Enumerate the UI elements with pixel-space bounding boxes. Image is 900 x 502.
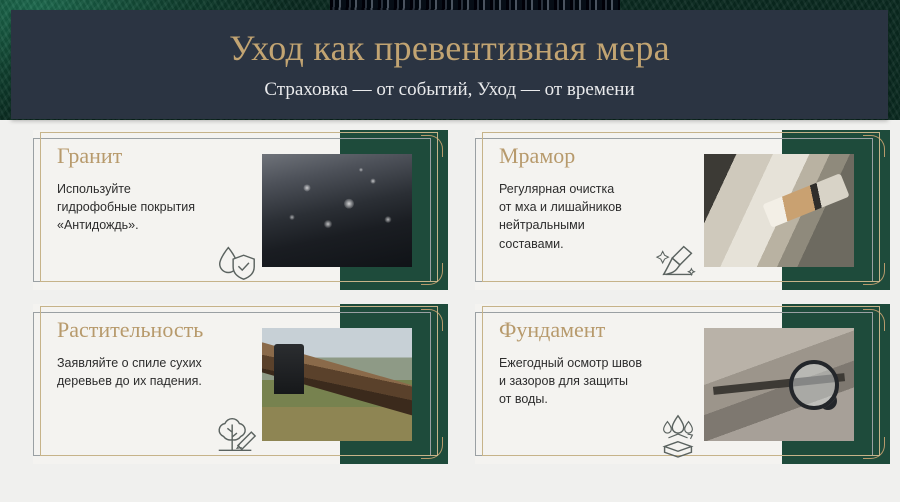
corner-ornament-bottom-right-icon [863, 263, 885, 285]
water-drop-shield-icon [213, 238, 259, 284]
card-granit[interactable]: Гранит Используйте гидрофобные покрытия … [33, 130, 448, 290]
card-text: Используйте гидрофобные покрытия «Антидо… [57, 180, 272, 234]
corner-ornament-bottom-right-icon [863, 437, 885, 459]
card-mramor[interactable]: Мрамор Регулярная очистка от мха и лишай… [475, 130, 890, 290]
waterproof-surface-icon [655, 412, 701, 458]
card-photo-granite [262, 154, 412, 267]
corner-ornament-top-right-icon [863, 135, 885, 157]
card-rastitelnost[interactable]: Растительность Заявляйте о спиле сухих д… [33, 304, 448, 464]
corner-ornament-top-right-icon [421, 309, 443, 331]
card-title: Растительность [57, 318, 272, 342]
cleaning-brush-icon [655, 238, 701, 284]
corner-ornament-bottom-right-icon [421, 263, 443, 285]
corner-ornament-top-right-icon [421, 135, 443, 157]
card-title: Фундамент [499, 318, 714, 342]
cards-grid: Гранит Используйте гидрофобные покрытия … [0, 130, 900, 464]
corner-ornament-bottom-right-icon [421, 437, 443, 459]
page-subtitle: Страховка — от событий, Уход — от времен… [264, 79, 634, 101]
card-text: Ежегодный осмотр швов и зазоров для защи… [499, 354, 714, 408]
card-photo-foundation [704, 328, 854, 441]
card-fundament[interactable]: Фундамент Ежегодный осмотр швов и зазоро… [475, 304, 890, 464]
tree-saw-icon [213, 412, 259, 458]
corner-ornament-top-right-icon [863, 309, 885, 331]
card-title: Мрамор [499, 144, 714, 168]
header-panel: Уход как превентивная мера Страховка — о… [11, 10, 888, 119]
page-title: Уход как превентивная мера [229, 28, 670, 69]
card-photo-fallen-tree [262, 328, 412, 441]
card-title: Гранит [57, 144, 272, 168]
card-photo-marble [704, 154, 854, 267]
card-text: Заявляйте о спиле сухих деревьев до их п… [57, 354, 272, 390]
